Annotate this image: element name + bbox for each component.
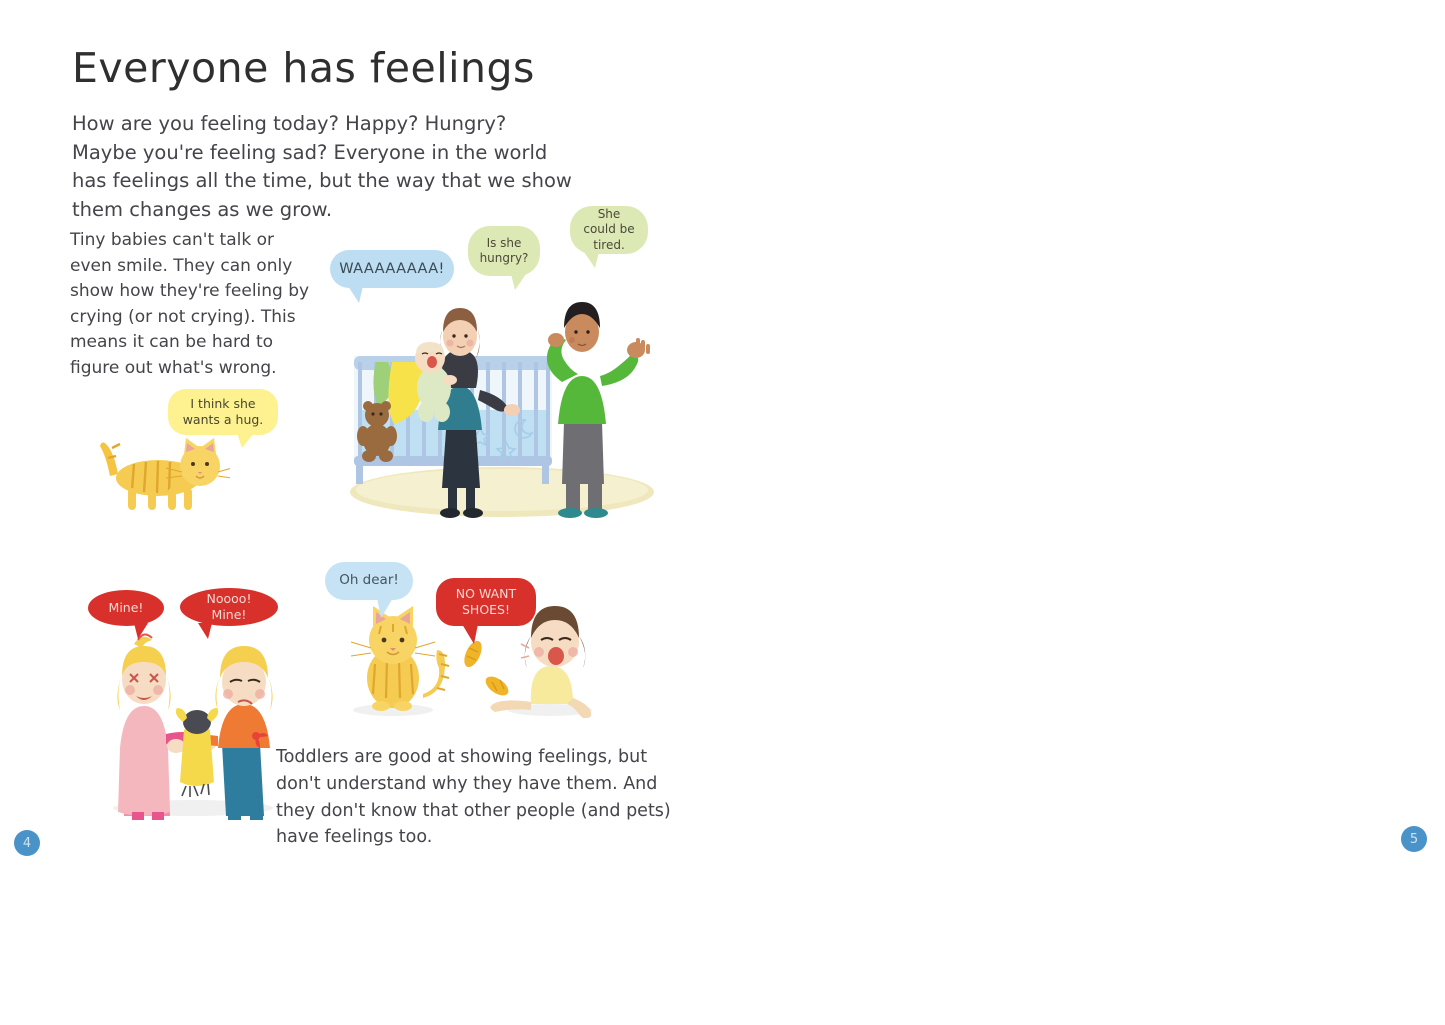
speech-bubble-no-want-shoes: NO WANT SHOES! [436, 578, 536, 626]
speech-bubble-hungry: Is she hungry? [468, 226, 540, 276]
right-page: Older children are also very good at sho… [723, 0, 1445, 873]
toddlers-paragraph: Toddlers are good at showing feelings, b… [276, 744, 676, 851]
speech-bubble-waaa: WAAAAAAAA! [330, 250, 454, 288]
toddlers-fighting-illustration [88, 630, 303, 820]
page-number-right: 5 [1401, 826, 1427, 852]
speech-bubble-mine: Mine! [88, 590, 164, 626]
walking-cat-illustration [100, 430, 230, 515]
speech-bubble-hug: I think she wants a hug. [168, 389, 278, 435]
baby-cot-illustration [330, 270, 670, 520]
intro-paragraph: How are you feeling today? Happy? Hungry… [72, 110, 572, 225]
page-number-left: 4 [14, 830, 40, 856]
left-page: Everyone has feelings How are you feelin… [0, 0, 722, 873]
speech-bubble-tired: She could be tired. [570, 206, 648, 254]
page-title: Everyone has feelings [72, 44, 535, 92]
speech-bubble-noooo-mine: Noooo! Mine! [180, 588, 278, 626]
speech-bubble-oh-dear: Oh dear! [325, 562, 413, 600]
babies-paragraph: Tiny babies can't talk or even smile. Th… [70, 228, 320, 381]
